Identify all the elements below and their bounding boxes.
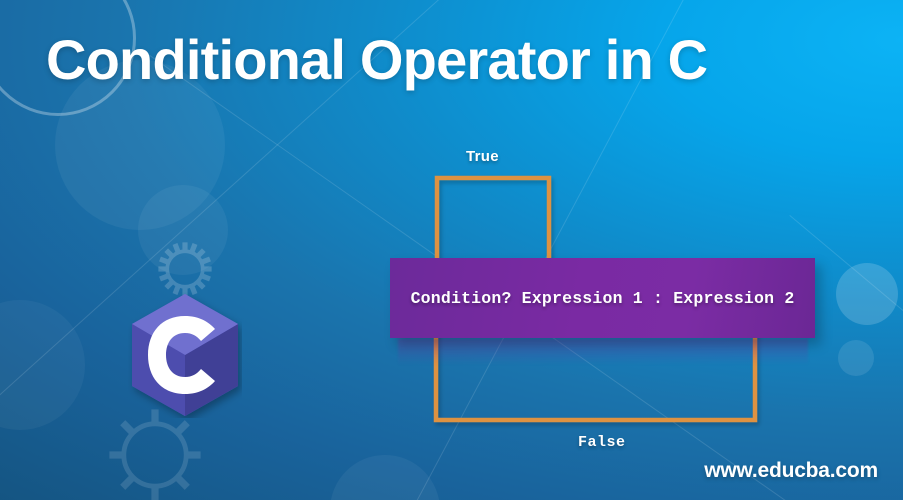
conditional-expression-text: Condition? Expression 1 : Expression 2 (411, 289, 795, 308)
site-watermark: www.educba.com (704, 459, 878, 483)
false-branch-label: False (578, 434, 626, 451)
true-branch-label: True (466, 148, 499, 165)
slide-canvas: Conditional Operator in C (0, 0, 903, 500)
conditional-expression-box: Condition? Expression 1 : Expression 2 (390, 258, 815, 338)
flow-diagram-arrows (0, 0, 903, 500)
